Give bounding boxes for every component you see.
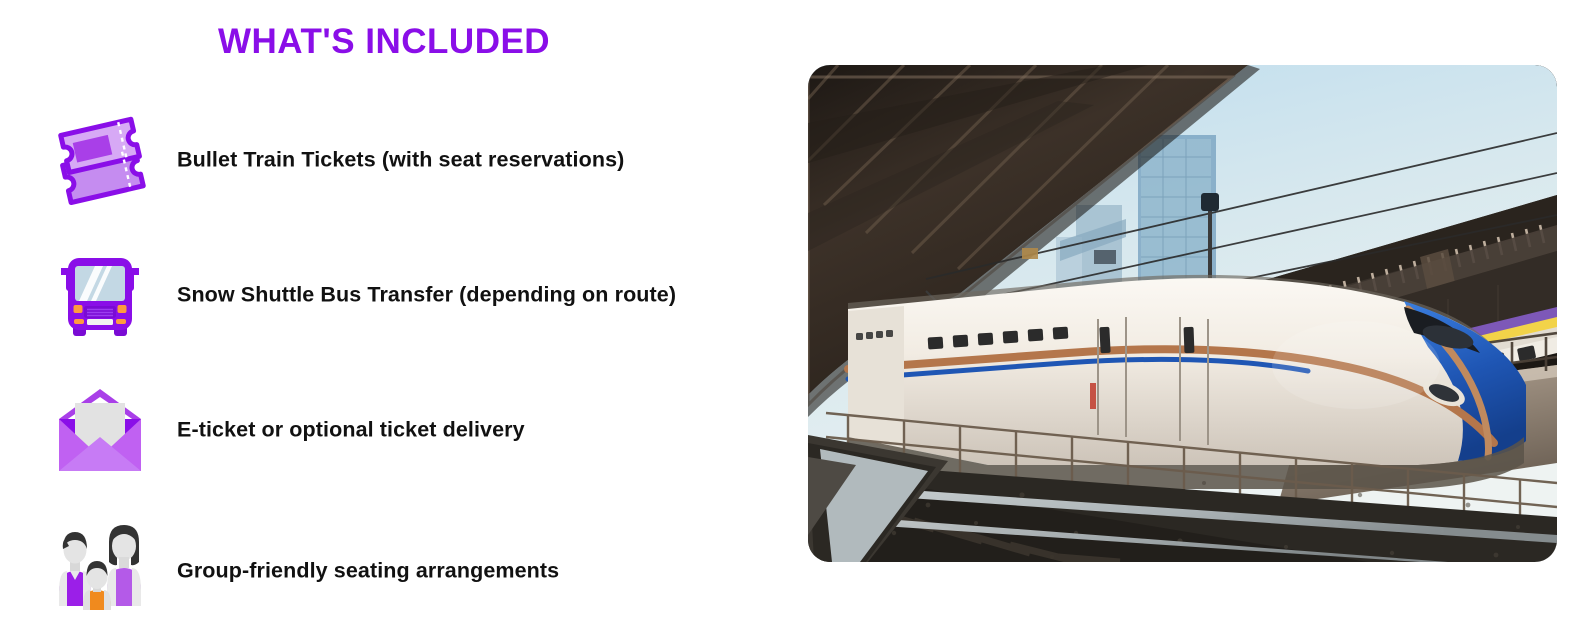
- list-item-label: Snow Shuttle Bus Transfer (depending on …: [177, 282, 676, 307]
- shinkansen-bullet-train-at-station-photo: [808, 65, 1557, 562]
- list-item-label: Group-friendly seating arrangements: [177, 558, 559, 583]
- tickets-icon: [45, 105, 155, 215]
- list-item: Group-friendly seating arrangements: [0, 497, 800, 632]
- envelope-icon: [45, 375, 155, 485]
- feature-list: Bullet Train Tickets (with seat reservat…: [0, 92, 800, 632]
- list-item: Bullet Train Tickets (with seat reservat…: [0, 92, 800, 227]
- list-item-label: E-ticket or optional ticket delivery: [177, 417, 525, 442]
- family-group-icon: [45, 506, 155, 616]
- whats-included-section: WHAT'S INCLUDED: [0, 0, 1584, 625]
- list-item: E-ticket or optional ticket delivery: [0, 362, 800, 497]
- list-item-label: Bullet Train Tickets (with seat reservat…: [177, 147, 624, 172]
- bus-icon: [45, 240, 155, 350]
- page-title: WHAT'S INCLUDED: [218, 22, 550, 62]
- features-column: WHAT'S INCLUDED: [0, 0, 800, 625]
- list-item: Snow Shuttle Bus Transfer (depending on …: [0, 227, 800, 362]
